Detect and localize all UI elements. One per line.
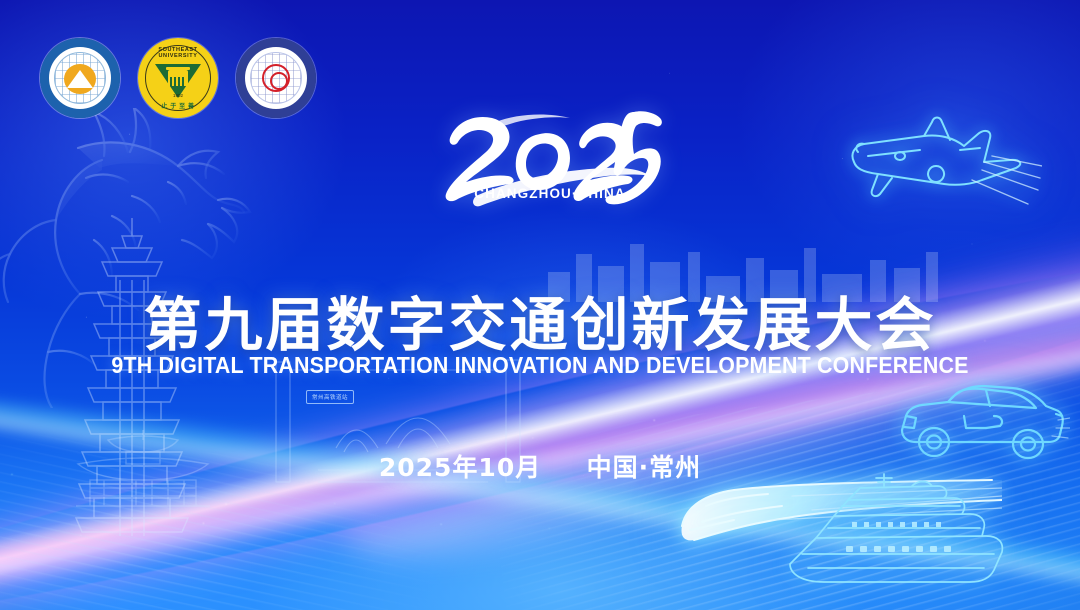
logo-group: SOUTHEAST UNIVERSITY 1902 止 于 至 善 — [40, 38, 316, 118]
logo-southeast-university: SOUTHEAST UNIVERSITY 1902 止 于 至 善 — [138, 38, 218, 118]
ship-icon — [772, 472, 1022, 602]
page-title-en: 9TH DIGITAL TRANSPORTATION INNOVATION AN… — [38, 352, 1042, 379]
seal-icon — [262, 64, 290, 92]
logo-changzhou-transportation-society — [236, 38, 316, 118]
event-meta: 2025年10月 中国·常州 — [0, 448, 1080, 484]
year-sub-label: CHANGZHOU·CHINA — [436, 186, 664, 201]
logo-bottom-text: 止 于 至 善 — [138, 101, 218, 110]
event-location: 中国·常州 — [587, 453, 702, 482]
logo-year: 1902 — [138, 93, 218, 98]
event-date: 2025年10月 — [379, 453, 541, 482]
airplane-icon — [832, 104, 1042, 224]
gate-building-icon — [168, 70, 188, 86]
conference-poster: 常州高铁道站 — [0, 0, 1080, 610]
page-title-cn: 第九届数字交通创新发展大会 — [0, 278, 1080, 362]
mountain-icon — [64, 64, 96, 94]
logo-top-text: SOUTHEAST UNIVERSITY — [138, 47, 218, 59]
logo-jiangsu-transportation-society — [40, 38, 120, 118]
station-sign: 常州高铁道站 — [306, 390, 354, 404]
